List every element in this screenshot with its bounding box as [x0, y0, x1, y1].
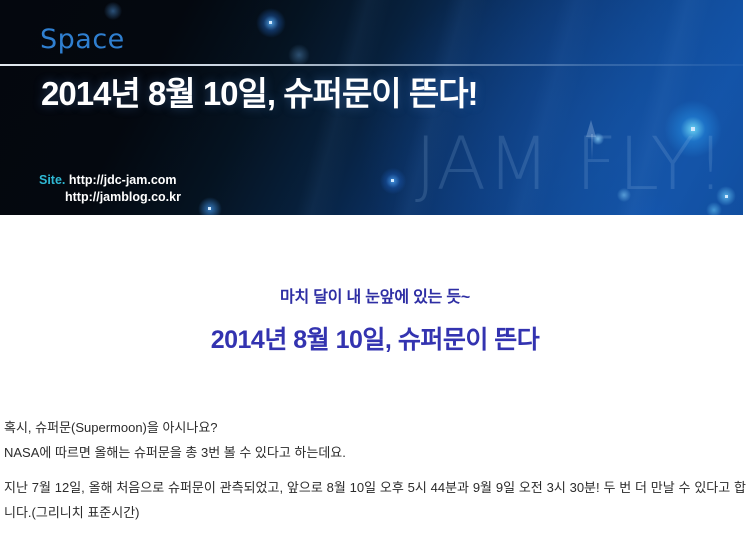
star-core-large: [691, 127, 695, 131]
star-glow-4: [198, 197, 222, 215]
star-glow-3: [380, 168, 406, 194]
body-paragraph-3: 지난 7월 12일, 올해 처음으로 슈퍼문이 관측되었고, 앞으로 8월 10…: [4, 475, 746, 525]
jam-fly-watermark: JAM FLY!: [415, 128, 726, 201]
site-url-primary[interactable]: http://jdc-jam.com: [69, 173, 177, 187]
banner-divider: [0, 64, 743, 66]
banner-site-info: Site. http://jdc-jam.com http://jamblog.…: [39, 172, 181, 206]
article-body: 혹시, 슈퍼문(Supermoon)을 아시나요? NASA에 따르면 올해는 …: [4, 415, 746, 525]
star-glow-1: [256, 8, 286, 38]
article-lede: 마치 달이 내 눈앞에 있는 듯~: [0, 283, 750, 307]
space-banner: JAM FLY! Space 2014년 8월 10일, 슈퍼문이 뜬다! Si…: [0, 0, 743, 215]
banner-title: 2014년 8월 10일, 슈퍼문이 뜬다!: [41, 76, 478, 112]
star-glow-8: [592, 133, 604, 145]
site-url-secondary[interactable]: http://jamblog.co.kr: [39, 189, 181, 206]
banner-kicker: Space: [40, 26, 125, 53]
planet-arc-glow: [612, 196, 692, 215]
rocket-trail-icon: [591, 134, 593, 160]
body-paragraph-2: NASA에 따르면 올해는 슈퍼문을 총 3번 볼 수 있다고 하는데요.: [4, 440, 746, 465]
star-glow-2: [288, 44, 310, 66]
star-core-4: [208, 207, 211, 210]
site-label: Site.: [39, 173, 65, 187]
star-core-5: [725, 195, 728, 198]
star-glow-large: [664, 100, 722, 158]
body-paragraph-1: 혹시, 슈퍼문(Supermoon)을 아시나요?: [4, 415, 746, 440]
star-glow-9: [104, 2, 122, 20]
star-core-1: [269, 21, 272, 24]
star-glow-7: [617, 188, 631, 202]
star-core-3: [391, 179, 394, 182]
rocket-icon: [586, 120, 596, 137]
star-glow-5: [716, 186, 736, 206]
article-headline: 2014년 8월 10일, 슈퍼문이 뜬다: [0, 320, 750, 356]
star-glow-6: [706, 202, 722, 215]
